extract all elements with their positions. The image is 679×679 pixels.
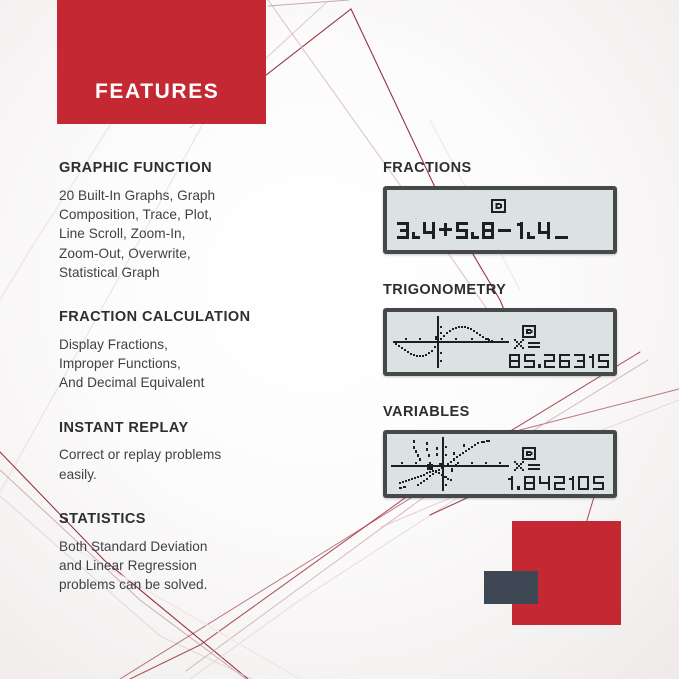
feature-description: 20 Built-In Graphs, Graph Composition, T… <box>59 186 359 282</box>
x-prompt <box>514 461 540 471</box>
feature-sheet-page: FEATURES GRAPHIC FUNCTION 20 Built-In Gr… <box>0 0 679 679</box>
feature-statistics: STATISTICS Both Standard Deviation and L… <box>59 511 359 595</box>
feature-title: STATISTICS <box>59 511 359 528</box>
lcd-screen-content-variables <box>387 434 613 494</box>
feature-title: GRAPHIC FUNCTION <box>59 160 359 177</box>
graph-axes <box>391 437 509 491</box>
degree-mode-icon <box>523 326 535 337</box>
feature-title: VARIABLES <box>383 404 627 420</box>
right-feature-column: FRACTIONS <box>383 160 627 526</box>
lcd-screen-content-trigonometry <box>387 312 613 372</box>
feature-title: INSTANT REPLAY <box>59 420 359 437</box>
x-value <box>508 476 604 490</box>
feature-trigonometry: TRIGONOMETRY <box>383 282 627 376</box>
feature-description: Both Standard Deviation and Linear Regre… <box>59 537 359 595</box>
feature-description: Display Fractions, Improper Functions, A… <box>59 335 359 393</box>
lcd-screen-content-fractions <box>387 190 613 250</box>
feature-title: FRACTIONS <box>383 160 627 176</box>
feature-fraction-calculation: FRACTION CALCULATION Display Fractions, … <box>59 309 359 393</box>
lcd-display-variables <box>383 430 617 498</box>
decorative-slate-rectangle <box>484 571 538 604</box>
data-points <box>399 440 465 489</box>
secondary-line <box>399 470 434 484</box>
degree-mode-icon <box>492 200 505 212</box>
feature-title: TRIGONOMETRY <box>383 282 627 298</box>
feature-variables: VARIABLES <box>383 404 627 498</box>
x-prompt <box>514 339 540 349</box>
feature-graphic-function: GRAPHIC FUNCTION 20 Built-In Graphs, Gra… <box>59 160 359 282</box>
feature-instant-replay: INSTANT REPLAY Correct or replay problem… <box>59 420 359 484</box>
degree-mode-icon <box>523 448 535 459</box>
lcd-display-trigonometry <box>383 308 617 376</box>
features-banner: FEATURES <box>57 0 266 124</box>
feature-title: FRACTION CALCULATION <box>59 309 359 326</box>
feature-fractions: FRACTIONS <box>383 160 627 254</box>
x-value <box>509 354 609 368</box>
features-banner-label: FEATURES <box>95 80 219 104</box>
feature-description: Correct or replay problems easily. <box>59 445 359 484</box>
left-feature-column: GRAPHIC FUNCTION 20 Built-In Graphs, Gra… <box>59 160 359 622</box>
lcd-display-fractions <box>383 186 617 254</box>
regression-line <box>417 440 490 486</box>
